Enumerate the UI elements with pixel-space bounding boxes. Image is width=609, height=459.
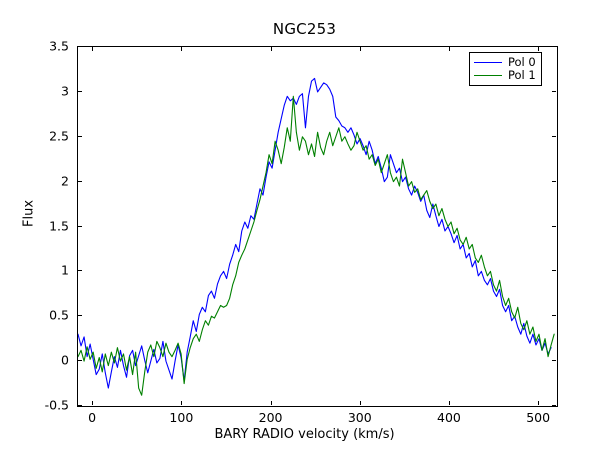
plot-area: [77, 46, 558, 407]
legend: Pol 0Pol 1: [469, 52, 542, 86]
legend-swatch-icon: [474, 75, 502, 76]
x-tick-label: 500: [526, 410, 550, 425]
legend-item: Pol 1: [474, 69, 536, 82]
series-layer: [78, 78, 554, 395]
x-tick-label: 300: [348, 410, 372, 425]
y-tick-label: 2.5: [3, 128, 69, 143]
figure-canvas: NGC253 -0.500.511.522.533.50100200300400…: [0, 0, 609, 459]
x-tick-label: 200: [259, 410, 283, 425]
y-axis-label: Flux: [22, 174, 37, 254]
y-tick-label: 1: [3, 263, 69, 278]
legend-label: Pol 1: [508, 69, 536, 82]
x-tick-label: 100: [169, 410, 193, 425]
series-line-0: [78, 78, 551, 388]
y-tick-label: 0: [3, 353, 69, 368]
y-tick-label: 0.5: [3, 308, 69, 323]
y-tick-label: -0.5: [3, 398, 69, 413]
y-tick-label: 3.5: [3, 39, 69, 54]
x-tick-label: 0: [88, 410, 96, 425]
x-axis-label: BARY RADIO velocity (km/s): [0, 427, 609, 442]
x-tick-label: 400: [437, 410, 461, 425]
series-line-1: [78, 96, 554, 395]
legend-swatch-icon: [474, 62, 502, 63]
page-title: NGC253: [0, 20, 609, 38]
y-tick-label: 3: [3, 83, 69, 98]
plot-svg: [78, 47, 557, 406]
